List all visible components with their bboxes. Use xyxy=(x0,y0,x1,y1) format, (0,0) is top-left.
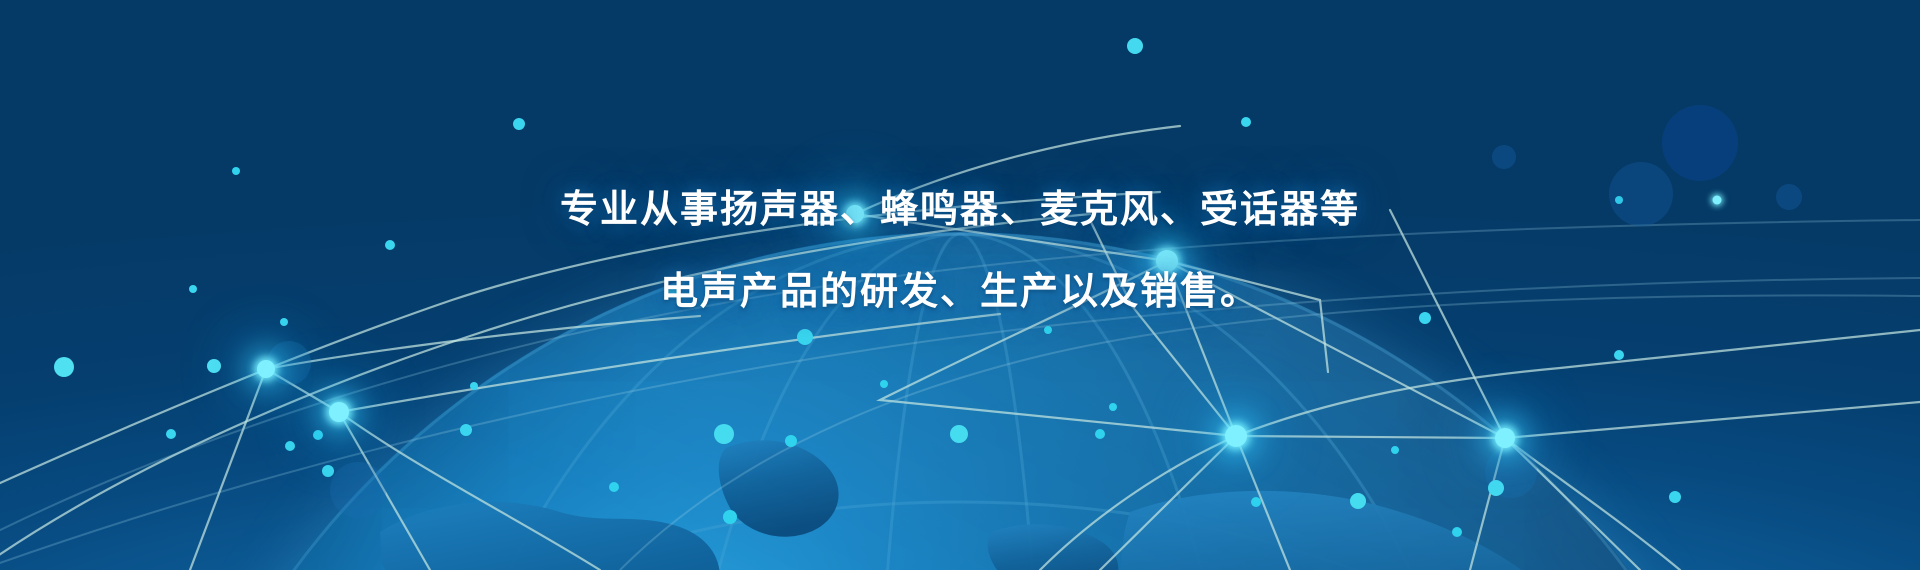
network-dot xyxy=(54,357,74,377)
network-dot xyxy=(322,465,334,477)
network-dot xyxy=(785,435,797,447)
hero-banner: 专业从事扬声器、蜂鸣器、麦克风、受话器等 电声产品的研发、生产以及销售。 xyxy=(0,0,1920,570)
network-dot xyxy=(207,359,221,373)
bokeh-circle xyxy=(330,462,386,518)
network-dot xyxy=(609,482,619,492)
network-node xyxy=(257,360,275,378)
network-dot xyxy=(1452,527,1462,537)
network-dot xyxy=(285,441,295,451)
network-dot xyxy=(1241,117,1251,127)
network-dot xyxy=(723,510,737,524)
network-dot xyxy=(166,429,176,439)
network-dot xyxy=(950,425,968,443)
network-dot xyxy=(1350,493,1366,509)
network-dot xyxy=(460,424,472,436)
network-dot xyxy=(470,382,478,390)
headline: 专业从事扬声器、蜂鸣器、麦克风、受话器等 电声产品的研发、生产以及销售。 xyxy=(0,168,1920,332)
network-node xyxy=(1495,428,1515,448)
network-dot xyxy=(1391,446,1399,454)
network-dot xyxy=(1614,350,1624,360)
headline-line-1: 专业从事扬声器、蜂鸣器、麦克风、受话器等 xyxy=(0,168,1920,250)
network-dot xyxy=(880,380,888,388)
bokeh-circle xyxy=(1492,145,1516,169)
network-dot xyxy=(313,430,323,440)
network-dot xyxy=(1251,497,1261,507)
network-dot xyxy=(513,118,525,130)
bokeh-circle xyxy=(267,341,311,385)
headline-line-2: 电声产品的研发、生产以及销售。 xyxy=(0,250,1920,332)
network-dot xyxy=(1488,480,1504,496)
network-node xyxy=(1225,425,1247,447)
network-dot xyxy=(1127,38,1143,54)
network-node xyxy=(329,402,349,422)
network-dot xyxy=(1095,429,1105,439)
network-dot xyxy=(1109,403,1117,411)
network-dot xyxy=(1669,491,1681,503)
network-dot xyxy=(714,424,734,444)
